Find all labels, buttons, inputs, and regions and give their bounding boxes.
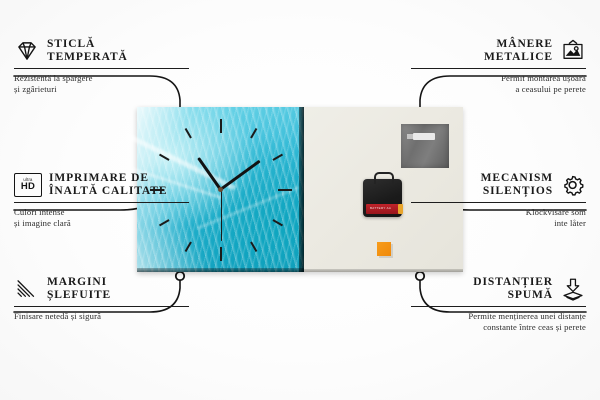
- clock-tick: [159, 153, 170, 160]
- feature-title: IMPRIMARE DE ÎNALTĂ CALITATE: [49, 172, 167, 198]
- feature-foam-spacer: DISTANȚIER SPUMĂ Permite menținerea unei…: [411, 276, 586, 334]
- feature-divider: [411, 68, 586, 69]
- clock-minute-hand: [218, 160, 260, 192]
- feature-divider: [14, 68, 189, 69]
- quartz-mechanism: BATTERY AA: [363, 179, 402, 217]
- clock-tick: [250, 241, 257, 252]
- hanger-slot: [413, 133, 435, 140]
- feature-header: ultra HD IMPRIMARE DE ÎNALTĂ CALITATE: [14, 172, 189, 198]
- feature-title: MECANISM SILENȚIOS: [481, 172, 553, 198]
- clock-center-hub: [218, 187, 223, 192]
- battery-terminal: [398, 204, 403, 214]
- feature-header: MÂNERE METALICE: [411, 38, 586, 64]
- diamond-icon: [14, 39, 40, 63]
- feature-divider: [14, 202, 189, 203]
- feature-header: MECANISM SILENȚIOS: [411, 172, 586, 198]
- clock-tick: [250, 128, 257, 139]
- feature-subtitle: Permite menținerea unei distanțe constan…: [411, 311, 586, 334]
- feature-title: MÂNERE METALICE: [484, 38, 553, 64]
- feature-polished-edges: MARGINI ȘLEFUITE Finisare netedă și sigu…: [14, 276, 189, 322]
- ultra-hd-badge-icon: ultra HD: [14, 173, 42, 197]
- feature-silent-mechanism: MECANISM SILENȚIOS Klockvisare som inte …: [411, 172, 586, 230]
- clock-tick: [184, 241, 191, 252]
- foam-spacer-icon: [560, 277, 586, 301]
- battery-label: BATTERY AA: [370, 206, 391, 210]
- clock-tick: [272, 219, 283, 226]
- feature-subtitle: Finisare netedă și sigură: [14, 311, 189, 322]
- feature-title: STICLĂ TEMPERATĂ: [47, 38, 128, 64]
- polished-edges-icon: [14, 277, 40, 301]
- feature-metal-handles: MÂNERE METALICE Permit montarea ușoară a…: [411, 38, 586, 96]
- feature-divider: [411, 306, 586, 307]
- feature-header: MARGINI ȘLEFUITE: [14, 276, 189, 302]
- clock-tick: [220, 247, 222, 261]
- feature-header: DISTANȚIER SPUMĂ: [411, 276, 586, 302]
- clock-tick: [272, 153, 283, 160]
- feature-subtitle: Permit montarea ușoară a ceasului pe per…: [411, 73, 586, 96]
- battery: BATTERY AA: [366, 204, 399, 214]
- clock-tick: [220, 119, 222, 133]
- feature-header: STICLĂ TEMPERATĂ: [14, 38, 189, 64]
- feature-hd-print: ultra HD IMPRIMARE DE ÎNALTĂ CALITATE Cu…: [14, 172, 189, 230]
- feature-subtitle: Culori intense și imagine clară: [14, 207, 189, 230]
- feature-divider: [14, 306, 189, 307]
- feature-title: DISTANȚIER SPUMĂ: [473, 276, 553, 302]
- feature-tempered-glass: STICLĂ TEMPERATĂ Rezistentă la spargere …: [14, 38, 189, 96]
- feature-title: MARGINI ȘLEFUITE: [47, 276, 111, 302]
- feature-subtitle: Klockvisare som inte låter: [411, 207, 586, 230]
- infographic-canvas: BATTERY AA STICLĂ TEMPERATĂ Rezistentă l…: [0, 0, 600, 400]
- feature-divider: [411, 202, 586, 203]
- picture-hanger-icon: [560, 39, 586, 63]
- clock-tick: [278, 189, 292, 191]
- metal-hanger-plate: [401, 124, 449, 168]
- clock-tick: [184, 128, 191, 139]
- mechanism-hanging-loop: [374, 172, 394, 184]
- clock-second-hand: [221, 189, 222, 241]
- feature-subtitle: Rezistentă la spargere și zgârieturi: [14, 73, 189, 96]
- gear-icon: [560, 173, 586, 197]
- foam-spacer-pad: [377, 242, 391, 256]
